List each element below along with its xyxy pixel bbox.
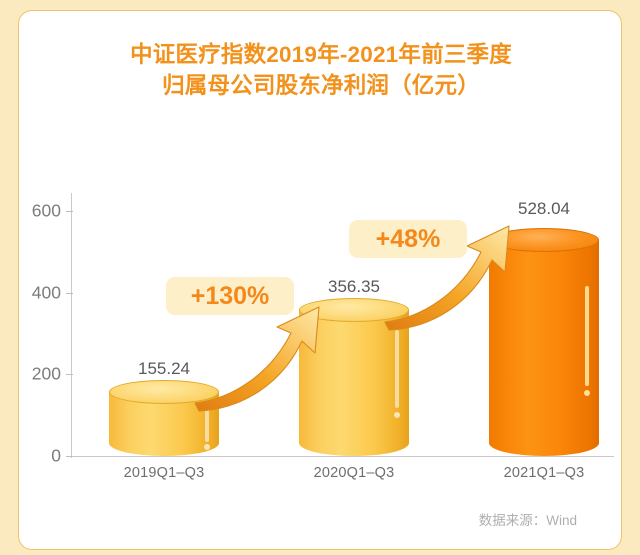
bar-sheen-dot xyxy=(584,390,590,396)
y-tick-mark-200 xyxy=(66,374,73,375)
bar-top-cap xyxy=(299,298,409,322)
growth-badge-130: +130% xyxy=(166,277,294,315)
bar-sheen xyxy=(395,330,399,408)
chart-card: 中证医疗指数2019年-2021年前三季度 归属母公司股东净利润（亿元） 600… xyxy=(18,10,622,550)
bar-body xyxy=(489,240,599,456)
plot-area: 600 400 200 0 155.24 356.35 xyxy=(19,11,623,551)
bar-sheen-dot xyxy=(394,412,400,418)
x-tick-label-2019q1-q3: 2019Q1–Q3 xyxy=(69,465,259,481)
bar-sheen-dot xyxy=(204,444,210,450)
bar-top-cap xyxy=(489,228,599,252)
x-tick-label-2021q1-q3: 2021Q1–Q3 xyxy=(449,465,639,481)
x-axis-line xyxy=(71,456,614,457)
bar-2021q1-q3 xyxy=(489,240,599,456)
y-tick-mark-400 xyxy=(66,293,73,294)
y-tick-mark-0 xyxy=(66,456,73,457)
y-tick-mark-600 xyxy=(66,211,73,212)
bar-2020q1-q3 xyxy=(299,310,409,456)
y-tick-label-200: 200 xyxy=(15,364,61,385)
bar-body xyxy=(299,310,409,456)
bar-top-cap xyxy=(109,380,219,404)
bar-2019q1-q3 xyxy=(109,392,219,456)
value-label-2021q1-q3: 528.04 xyxy=(464,199,624,219)
x-tick-label-2020q1-q3: 2020Q1–Q3 xyxy=(259,465,449,481)
value-label-2020q1-q3: 356.35 xyxy=(274,277,434,297)
growth-badge-48: +48% xyxy=(349,220,467,258)
y-tick-label-0: 0 xyxy=(15,446,61,467)
y-tick-label-400: 400 xyxy=(15,283,61,304)
source-note: 数据来源：Wind xyxy=(479,509,577,529)
chart-infographic: 中证医疗指数2019年-2021年前三季度 归属母公司股东净利润（亿元） 600… xyxy=(0,0,640,555)
value-label-2019q1-q3: 155.24 xyxy=(84,359,244,379)
bar-sheen xyxy=(585,286,589,386)
y-tick-label-600: 600 xyxy=(15,201,61,222)
y-axis-line xyxy=(71,193,72,458)
bar-sheen xyxy=(205,408,209,442)
